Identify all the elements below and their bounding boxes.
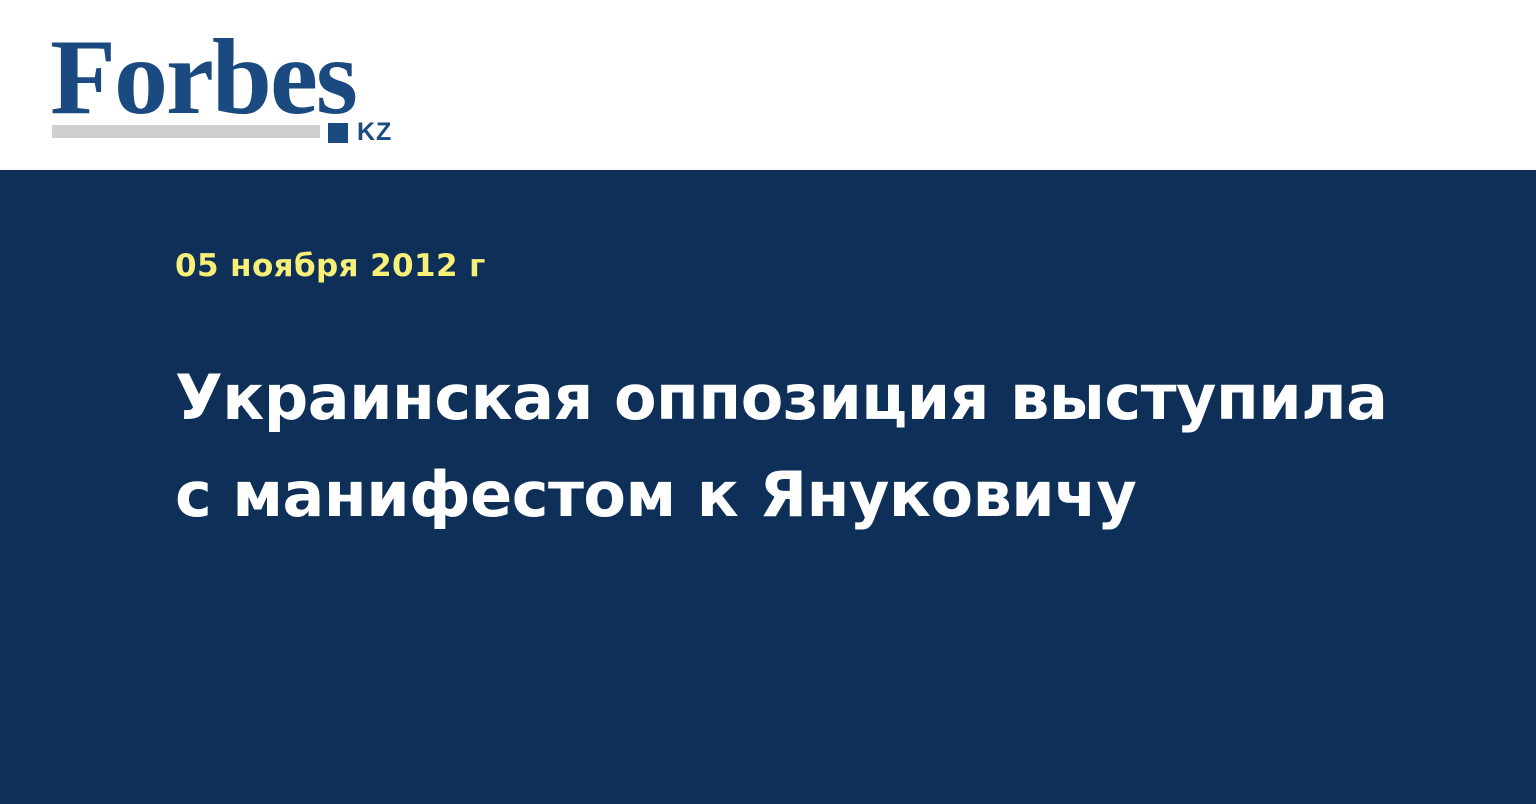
logo-tld-label: KZ [357, 120, 392, 145]
logo-tld-group: KZ [328, 120, 392, 145]
article-hero: 05 ноября 2012 г Украинская оппозиция вы… [0, 170, 1536, 804]
logo-underbar [52, 125, 320, 138]
forbes-wordmark: Forbes [50, 24, 356, 132]
site-header: Forbes KZ [0, 0, 1536, 170]
forbes-kz-logo[interactable]: Forbes KZ [50, 24, 410, 146]
article-page: Forbes KZ 05 ноября 2012 г Украинская оп… [0, 0, 1536, 804]
blue-square-icon [328, 123, 348, 143]
page-title: Украинская оппозиция выступила с манифес… [175, 349, 1405, 543]
article-date: 05 ноября 2012 г [175, 248, 486, 284]
page-title-line-2: с манифестом к Януковичу [175, 446, 1405, 543]
page-title-line-1: Украинская оппозиция выступила [175, 349, 1405, 446]
